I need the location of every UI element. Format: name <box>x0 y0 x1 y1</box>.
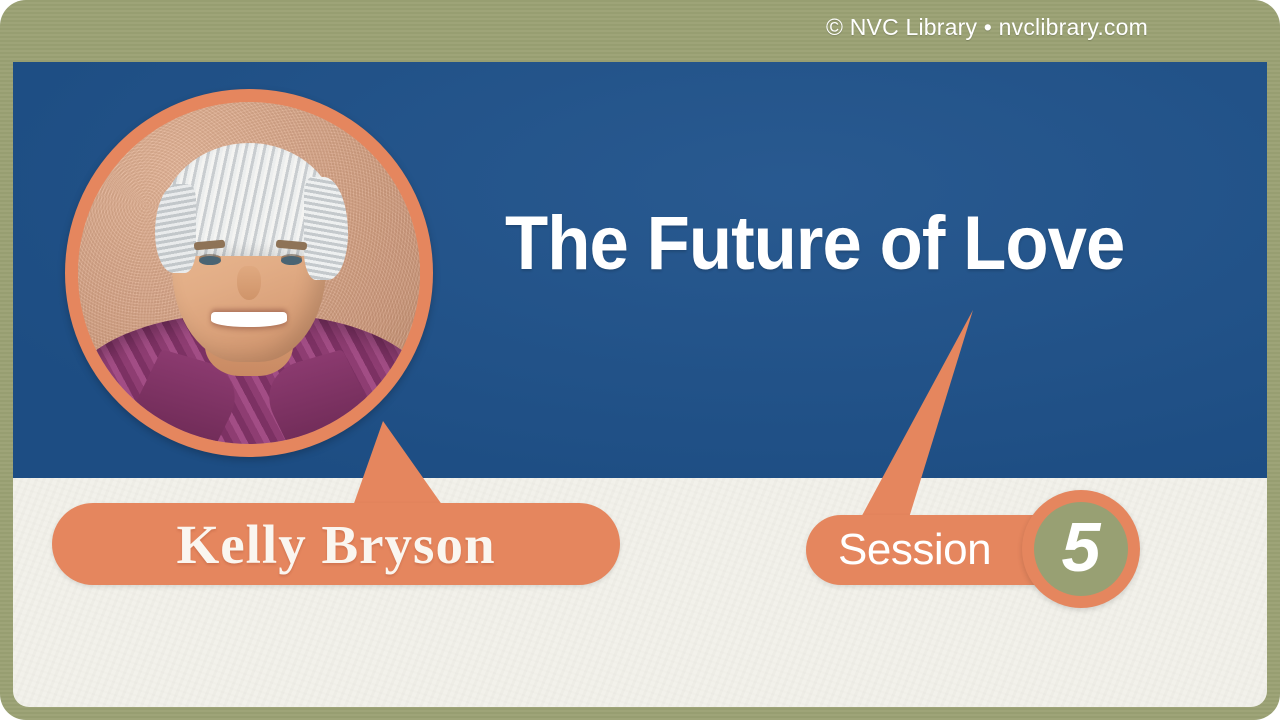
session-number-badge-inner: 5 <box>1034 502 1128 596</box>
session-number-value: 5 <box>1062 512 1101 582</box>
presenter-name-pill: Kelly Bryson <box>52 503 620 585</box>
copyright-watermark: © NVC Library • nvclibrary.com <box>826 14 1148 41</box>
avatar <box>65 89 433 457</box>
portrait-eye-left <box>199 256 220 265</box>
session-number-badge: 5 <box>1022 490 1140 608</box>
presenter-portrait-photo <box>78 102 420 444</box>
page-title: The Future of Love <box>505 206 1124 282</box>
session-label: Session <box>838 528 991 572</box>
presenter-name-label: Kelly Bryson <box>176 517 495 572</box>
portrait-eye-right <box>281 256 302 265</box>
portrait-hair-left <box>155 184 196 273</box>
portrait-mouth <box>211 312 286 326</box>
slide-canvas: © NVC Library • nvclibrary.com The Futur… <box>0 0 1280 720</box>
